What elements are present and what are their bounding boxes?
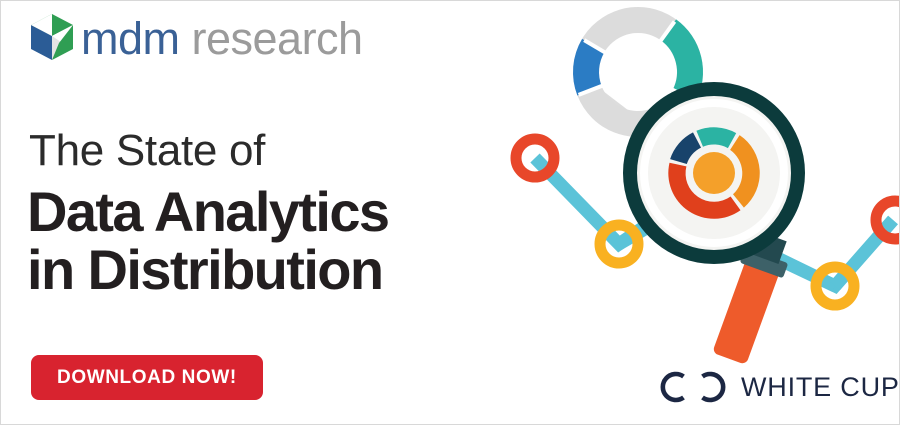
node-red-1: [516, 139, 554, 177]
interlocking-rings-icon: [659, 370, 727, 404]
data-analytics-illustration: [479, 1, 899, 425]
node-yellow-1: [600, 225, 638, 263]
background-donut-chart: [579, 20, 694, 124]
node-yellow-2: [816, 267, 854, 305]
headline-line-2: in Distribution: [27, 241, 388, 299]
promo-banner: mdm research: [0, 0, 900, 425]
eyebrow-text: The State of: [29, 129, 265, 173]
line-chart: [535, 93, 893, 286]
brand-wordmark: mdm research: [81, 16, 363, 61]
page-title: Data Analytics in Distribution: [27, 183, 388, 298]
partner-name: WHITE CUP: [741, 372, 900, 403]
node-red-2: [876, 201, 899, 239]
headline-line-1: Data Analytics: [27, 183, 388, 241]
lens-donut-chart: [668, 127, 759, 218]
download-now-button[interactable]: DOWNLOAD NOW!: [31, 355, 263, 400]
brand-name-primary: mdm: [81, 13, 180, 64]
mdm-cube-icon: [29, 12, 75, 64]
magnifying-glass-icon: [630, 89, 798, 367]
brand-logo: mdm research: [29, 9, 363, 67]
line-chart-nodes: [516, 139, 899, 305]
brand-name-secondary: research: [180, 13, 363, 64]
partner-logo: WHITE CUP: [659, 367, 900, 407]
